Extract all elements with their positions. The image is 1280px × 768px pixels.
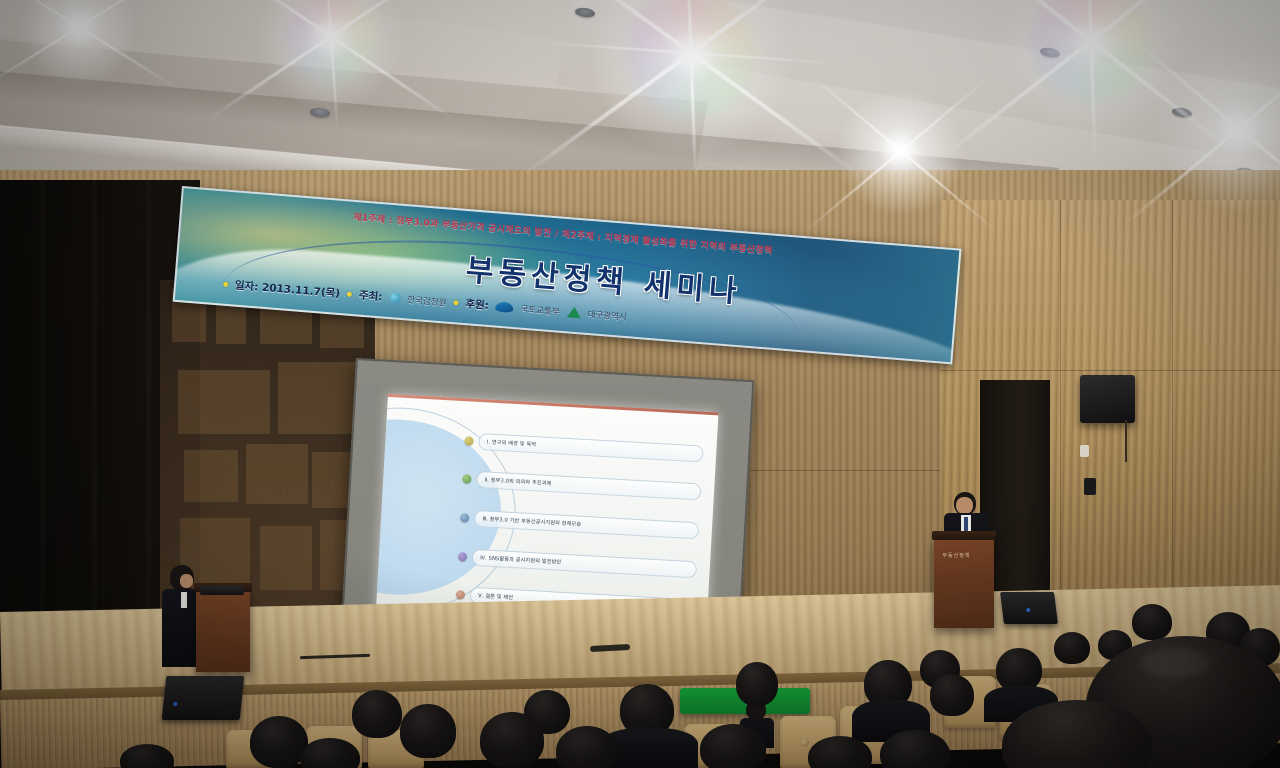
speaker-led-icon [1026, 608, 1030, 612]
audience-head [1132, 604, 1172, 640]
toc-item: Ⅳ. SNS활용과 공시지원의 발전방안 [458, 548, 697, 578]
slide-title: 목 차 [531, 393, 576, 399]
toc-item-label: Ⅲ. 정부3.0 기반 부동산공시지원의 현재모습 [482, 515, 581, 528]
toc-item-label: Ⅱ. 정부3.0의 의의와 추진과제 [484, 477, 551, 488]
wall-sensor-icon [1080, 445, 1089, 457]
audience-head [352, 690, 402, 738]
audience-head [1054, 632, 1090, 664]
toc-item: Ⅲ. 정부3.0 기반 부동산공시지원의 현재모습 [460, 509, 699, 539]
toc-pill: Ⅱ. 정부3.0의 의의와 추진과제 [476, 471, 701, 501]
stage-monitor-right [1000, 592, 1058, 624]
podium-top-surface [932, 531, 997, 540]
mural-block [178, 370, 270, 434]
toc-bullet-icon [458, 552, 467, 561]
banner-sponsor-org2: 대구광역시 [587, 308, 627, 323]
bullet-dot-icon [347, 292, 352, 297]
host-logo-icon [389, 292, 401, 304]
mural-block [246, 444, 308, 504]
toc-bullet-icon [465, 436, 474, 445]
banner-host-label: 주최: [358, 288, 383, 305]
audience-head [480, 712, 544, 768]
podium-right: 부동산정책 [934, 538, 994, 628]
wall-camera-icon [1084, 478, 1096, 495]
sponsor-logo-icon [495, 301, 514, 312]
person-face [180, 574, 193, 588]
banner-host-org: 한국감정원 [407, 293, 447, 308]
seminar-photo: 제1주제 : 정부3.0과 부동산가격 공시제도의 발전 / 제2주제 : 지역… [0, 0, 1280, 768]
laptop [200, 586, 244, 595]
toc-item-label: Ⅰ. 연구의 배경 및 목적 [487, 438, 537, 448]
audience-head [700, 724, 766, 768]
bullet-dot-icon [223, 282, 228, 287]
toc-item: Ⅱ. 정부3.0의 의의와 추진과제 [462, 470, 701, 500]
city-logo-icon [566, 306, 581, 318]
mural-block [184, 450, 238, 502]
toc-item-label: Ⅴ. 결론 및 제언 [478, 593, 513, 602]
podium-left [196, 590, 250, 672]
mural-block [260, 526, 312, 590]
stage-monitor-left [162, 676, 245, 720]
toc-item-label: Ⅳ. SNS활용과 공시지원의 발전방안 [480, 554, 561, 566]
toc-pill: Ⅰ. 연구의 배경 및 목적 [478, 433, 703, 463]
banner-sponsor-label: 후원: [465, 296, 490, 313]
toc-bullet-icon [456, 590, 465, 599]
bullet-dot-icon [453, 300, 458, 305]
wall-mural [160, 280, 375, 610]
banner-sponsor-org1: 국토교통부 [520, 302, 560, 317]
seat-knob [800, 738, 809, 747]
audience-head [930, 674, 974, 716]
slide-toc-list: Ⅰ. 연구의 배경 및 목적 Ⅱ. 정부3.0의 의의와 추진과제 Ⅲ. 정부3… [455, 421, 704, 628]
slide-accent-bar [387, 393, 718, 415]
person-face [956, 497, 973, 514]
toc-bullet-icon [460, 513, 469, 522]
toc-pill: Ⅲ. 정부3.0 기반 부동산공시지원의 현재모습 [474, 510, 699, 540]
audience-head [556, 726, 618, 768]
hair-highlight [1140, 648, 1210, 678]
person-shirt [181, 592, 187, 608]
toc-bullet-icon [462, 474, 471, 483]
toc-item: Ⅰ. 연구의 배경 및 목적 [464, 432, 703, 462]
podium-nameplate: 부동산정책 [942, 552, 970, 559]
audience-head [400, 704, 456, 758]
audience-head [736, 662, 778, 706]
wall-speaker-bracket [1125, 420, 1127, 462]
speaker-led-icon [173, 702, 177, 706]
mural-block [278, 362, 364, 434]
wall-seam [940, 370, 1280, 371]
toc-pill: Ⅳ. SNS활용과 공시지원의 발전방안 [472, 548, 697, 578]
wall-speaker [1080, 375, 1135, 423]
